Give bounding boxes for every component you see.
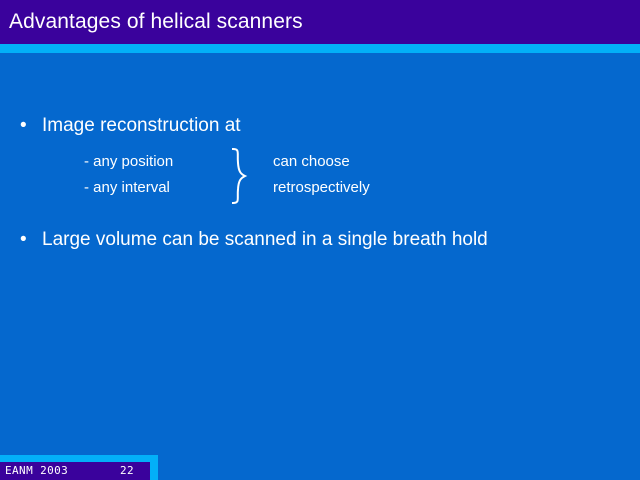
slide-page-number: 22: [120, 462, 134, 480]
sub-item-1-left-label: - any position: [84, 149, 173, 175]
presentation-slide: Advantages of helical scanners • Image r…: [0, 0, 640, 480]
slide-body: • Image reconstruction at - any position…: [0, 56, 640, 455]
sub-item-row-2: - any interval retrospectively: [84, 175, 504, 201]
bullet-marker-icon: •: [20, 114, 42, 138]
sub-item-group: - any position can choose - any interval…: [84, 149, 504, 201]
footer-accent-edge: [150, 455, 158, 480]
bullet-item-2-label: Large volume can be scanned in a single …: [42, 228, 488, 252]
sub-item-2-right-label: retrospectively: [273, 175, 370, 201]
bullet-marker-icon: •: [20, 228, 42, 252]
bullet-item-2: • Large volume can be scanned in a singl…: [20, 228, 488, 252]
page-title: Advantages of helical scanners: [9, 9, 303, 35]
curly-brace-icon: [229, 147, 255, 205]
footer-label: EANM 2003: [5, 462, 68, 480]
slide-footer: EANM 2003 22: [0, 462, 150, 480]
bullet-item-1: • Image reconstruction at: [20, 114, 241, 138]
sub-item-row-1: - any position can choose: [84, 149, 504, 175]
footer-accent-stripe: [0, 455, 158, 462]
sub-item-2-left-label: - any interval: [84, 175, 170, 201]
sub-item-1-right-label: can choose: [273, 149, 350, 175]
bullet-item-1-label: Image reconstruction at: [42, 114, 241, 138]
slide-title-bar: Advantages of helical scanners: [0, 0, 640, 44]
title-accent-stripe: [0, 44, 640, 53]
